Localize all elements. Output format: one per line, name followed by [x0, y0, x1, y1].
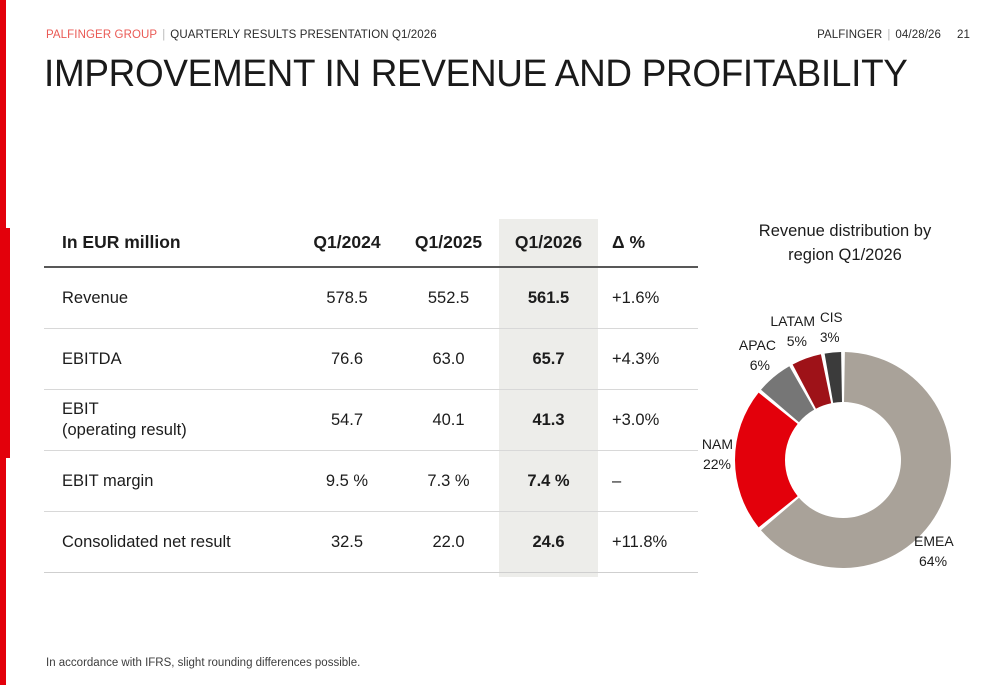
left-accent-bar-thick	[0, 228, 10, 458]
slide: PALFINGER GROUP | QUARTERLY RESULTS PRES…	[0, 0, 1000, 685]
donut-label-cis-name: CIS	[820, 310, 843, 325]
cell-ebitda-q1-2024: 76.6	[296, 329, 398, 390]
cell-ebit-delta: +3.0%	[598, 390, 698, 451]
cell-revenue-delta: +1.6%	[598, 267, 698, 329]
cell-net-result-q1-2026: 24.6	[499, 512, 598, 573]
financials-table-wrapper: In EUR million Q1/2024 Q1/2025 Q1/2026 Δ…	[44, 219, 698, 573]
cell-ebitda-q1-2026: 65.7	[499, 329, 598, 390]
row-label-revenue: Revenue	[44, 267, 296, 329]
column-header-delta: Δ %	[598, 219, 698, 267]
financials-table: In EUR million Q1/2024 Q1/2025 Q1/2026 Δ…	[44, 219, 698, 573]
slide-header: PALFINGER GROUP | QUARTERLY RESULTS PRES…	[46, 27, 970, 43]
row-label-subtext: (operating result)	[62, 420, 296, 441]
donut-label-latam-value: 5%	[787, 333, 807, 349]
donut-chart-svg: EMEA 64% NAM 22% APAC 6% LATAM 5% CIS 3%	[700, 219, 990, 589]
donut-label-latam-name: LATAM	[770, 313, 815, 329]
header-separator: |	[162, 29, 165, 41]
presentation-subtitle: QUARTERLY RESULTS PRESENTATION Q1/2026	[170, 29, 436, 41]
cell-revenue-q1-2025: 552.5	[398, 267, 499, 329]
page-title: IMPROVEMENT IN REVENUE AND PROFITABILITY	[44, 52, 908, 96]
table-body: Revenue 578.5 552.5 561.5 +1.6% EBITDA 7…	[44, 267, 698, 573]
cell-ebit-margin-q1-2024: 9.5 %	[296, 451, 398, 512]
column-header-label: In EUR million	[44, 219, 296, 267]
table-row: EBITDA 76.6 63.0 65.7 +4.3%	[44, 329, 698, 390]
column-header-q1-2024: Q1/2024	[296, 219, 398, 267]
cell-ebitda-q1-2025: 63.0	[398, 329, 499, 390]
table-head: In EUR million Q1/2024 Q1/2025 Q1/2026 Δ…	[44, 219, 698, 267]
brand-label: PALFINGER GROUP	[46, 29, 157, 41]
row-label-text: Consolidated net result	[62, 533, 231, 551]
cell-ebit-margin-q1-2026: 7.4 %	[499, 451, 598, 512]
row-label-text: Revenue	[62, 289, 128, 307]
cell-ebit-q1-2024: 54.7	[296, 390, 398, 451]
cell-ebit-margin-q1-2025: 7.3 %	[398, 451, 499, 512]
donut-label-cis-value: 3%	[820, 330, 840, 345]
row-label-ebit: EBIT (operating result)	[44, 390, 296, 451]
donut-label-nam-value: 22%	[703, 456, 731, 472]
header-left: PALFINGER GROUP | QUARTERLY RESULTS PRES…	[46, 29, 437, 41]
row-label-ebit-margin: EBIT margin	[44, 451, 296, 512]
row-label-text: EBIT	[62, 400, 99, 418]
donut-label-emea-name: EMEA	[914, 533, 954, 549]
cell-ebit-q1-2025: 40.1	[398, 390, 499, 451]
table-row: EBIT (operating result) 54.7 40.1 41.3 +…	[44, 390, 698, 451]
cell-ebitda-delta: +4.3%	[598, 329, 698, 390]
cell-revenue-q1-2026: 561.5	[499, 267, 598, 329]
donut-label-nam-name: NAM	[702, 436, 733, 452]
page-number: 21	[957, 29, 970, 41]
header-brand-right: PALFINGER	[817, 29, 882, 41]
cell-net-result-q1-2025: 22.0	[398, 512, 499, 573]
row-label-ebitda: EBITDA	[44, 329, 296, 390]
header-right-separator: |	[887, 29, 890, 41]
cell-net-result-q1-2024: 32.5	[296, 512, 398, 573]
revenue-distribution-chart: Revenue distribution by region Q1/2026 E…	[700, 219, 990, 589]
footnote: In accordance with IFRS, slight rounding…	[46, 657, 360, 669]
row-label-text: EBIT margin	[62, 472, 153, 490]
donut-label-apac-value: 6%	[750, 357, 770, 373]
table-header-row: In EUR million Q1/2024 Q1/2025 Q1/2026 Δ…	[44, 219, 698, 267]
cell-net-result-delta: +11.8%	[598, 512, 698, 573]
table-row: Consolidated net result 32.5 22.0 24.6 +…	[44, 512, 698, 573]
cell-revenue-q1-2024: 578.5	[296, 267, 398, 329]
presentation-date: 04/28/26	[895, 29, 941, 41]
table-row: EBIT margin 9.5 % 7.3 % 7.4 % –	[44, 451, 698, 512]
donut-label-emea-value: 64%	[919, 553, 947, 569]
column-header-q1-2025: Q1/2025	[398, 219, 499, 267]
column-header-q1-2026: Q1/2026	[499, 219, 598, 267]
cell-ebit-margin-delta: –	[598, 451, 698, 512]
row-label-text: EBITDA	[62, 350, 122, 368]
table-row: Revenue 578.5 552.5 561.5 +1.6%	[44, 267, 698, 329]
donut-label-apac-name: APAC	[739, 337, 776, 353]
cell-ebit-q1-2026: 41.3	[499, 390, 598, 451]
row-label-consolidated-net-result: Consolidated net result	[44, 512, 296, 573]
header-right: PALFINGER | 04/28/26 21	[817, 29, 970, 41]
